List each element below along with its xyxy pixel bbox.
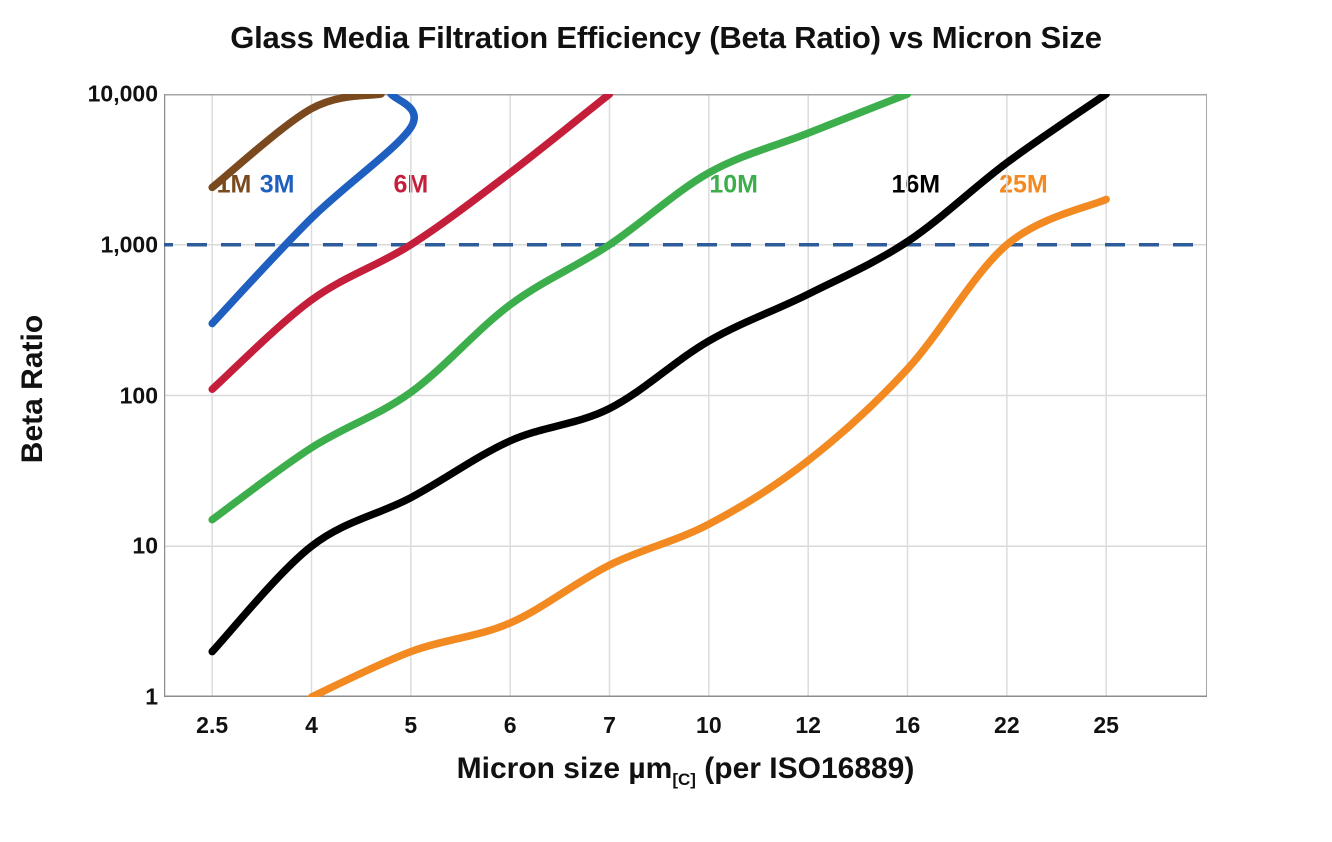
x-axis-tick-label: 5 [366,712,456,739]
series-line-10M [212,94,907,520]
x-axis-tick-label: 16 [863,712,953,739]
x-axis-title-subscript: [C] [672,770,696,789]
x-axis-title-main: Micron size µm [457,752,673,785]
x-axis-tick-label: 2.5 [167,712,257,739]
plot-svg [164,94,1207,697]
series-line-1M [212,94,381,187]
x-axis-tick-label: 6 [465,712,555,739]
series-line-3M [212,94,414,324]
y-axis-tick-label: 100 [0,382,158,409]
x-axis-tick-label: 12 [763,712,853,739]
series-line-16M [212,94,1106,652]
y-axis-tick-label: 1,000 [0,231,158,258]
x-axis-tick-label: 22 [962,712,1052,739]
chart-canvas: Glass Media Filtration Efficiency (Beta … [0,0,1332,842]
y-axis-tick-label: 10 [0,533,158,560]
chart-title: Glass Media Filtration Efficiency (Beta … [0,20,1332,56]
x-axis-tick-label: 7 [565,712,655,739]
x-axis-title: Micron size µm[C] (per ISO16889) [164,752,1207,790]
x-axis-tick-label: 10 [664,712,754,739]
x-axis-tick-label: 4 [267,712,357,739]
x-axis-tick-label: 25 [1061,712,1151,739]
x-axis-title-tail: (per ISO16889) [696,752,914,785]
y-axis-tick-label: 10,000 [0,81,158,108]
plot-area [164,94,1207,697]
y-axis-tick-label: 1 [0,684,158,711]
